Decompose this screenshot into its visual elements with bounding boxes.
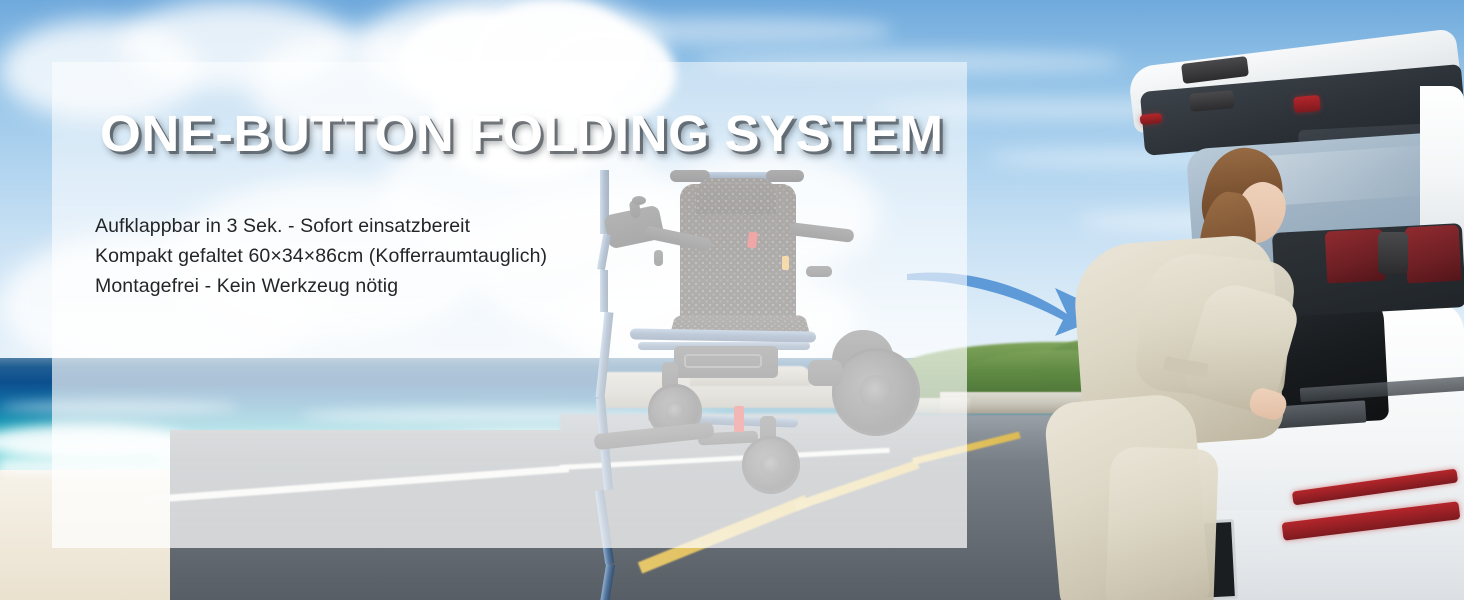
feature-list: Aufklappbar in 3 Sek. - Sofort einsatzbe… xyxy=(95,211,547,301)
product-feature-banner: ONE-BUTTON FOLDING SYSTEM Aufklappbar in… xyxy=(0,0,1464,600)
rear-seat-red xyxy=(1325,229,1386,284)
woman-loading-wheelchair xyxy=(1012,148,1282,600)
trouser-leg xyxy=(1105,446,1219,600)
rear-seat-red xyxy=(1405,225,1462,284)
feature-item-1: Aufklappbar in 3 Sek. - Sofort einsatzbe… xyxy=(95,211,547,241)
feature-item-3: Montagefrei - Kein Werkzeug nötig xyxy=(95,271,547,301)
feature-item-2: Kompakt gefaltet 60×34×86cm (Kofferraumt… xyxy=(95,241,547,271)
hatch-handle xyxy=(1189,90,1234,112)
child-seat xyxy=(1378,232,1408,274)
page-title: ONE-BUTTON FOLDING SYSTEM xyxy=(100,104,944,163)
hatch-red-reflector xyxy=(1293,95,1320,113)
